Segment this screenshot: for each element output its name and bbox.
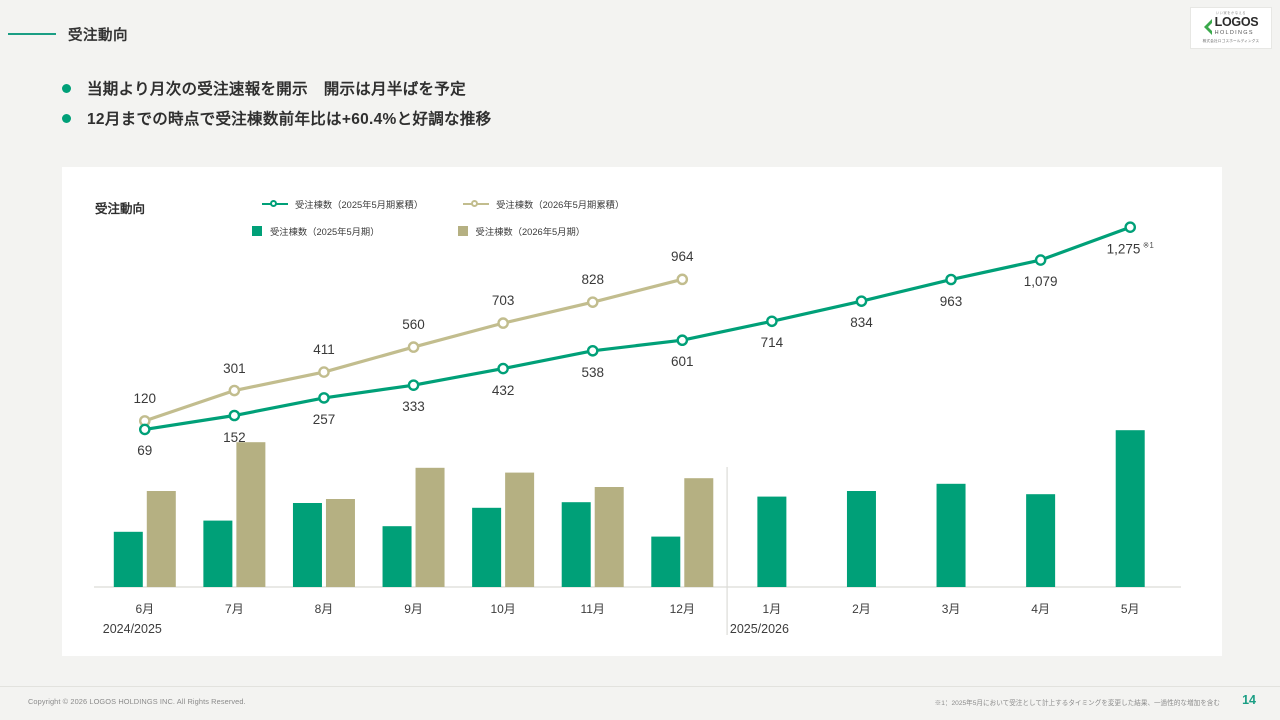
chevron-left-icon xyxy=(1204,19,1212,35)
page-title: 受注動向 xyxy=(68,24,128,45)
slide: 受注動向 いい家をかなえる LOGOS HOLDINGS 株式会社ロゴスホールデ… xyxy=(0,0,1280,720)
list-item: 当期より月次の受注速報を開示 開示は月半ばを予定 xyxy=(62,73,491,103)
logo-mark-row: LOGOS HOLDINGS xyxy=(1204,16,1259,37)
slide-header: 受注動向 いい家をかなえる LOGOS HOLDINGS 株式会社ロゴスホールデ… xyxy=(0,0,1280,58)
bullet-text: 12月までの時点で受注棟数前年比は+60.4%と好調な推移 xyxy=(87,107,491,129)
logo-company-jp: 株式会社ロゴスホールディングス xyxy=(1203,39,1260,44)
chart-plot-area xyxy=(62,167,1222,656)
chart-card: 受注動向 受注棟数（2025年5月期累積） 受注棟数（2026年5月期累積） 受… xyxy=(62,167,1222,656)
bullet-dot-icon xyxy=(62,84,71,93)
logo-name: LOGOS xyxy=(1215,16,1259,29)
list-item: 12月までの時点で受注棟数前年比は+60.4%と好調な推移 xyxy=(62,103,491,133)
logo-wordmark: LOGOS HOLDINGS xyxy=(1215,16,1259,37)
bullet-dot-icon xyxy=(62,114,71,123)
slide-footer: Copyright © 2026 LOGOS HOLDINGS INC. All… xyxy=(0,686,1280,720)
copyright-text: Copyright © 2026 LOGOS HOLDINGS INC. All… xyxy=(28,697,246,706)
bullet-text: 当期より月次の受注速報を開示 開示は月半ばを予定 xyxy=(87,77,466,99)
bullet-list: 当期より月次の受注速報を開示 開示は月半ばを予定 12月までの時点で受注棟数前年… xyxy=(62,73,491,133)
chart-svg xyxy=(62,167,1222,656)
logo-subname: HOLDINGS xyxy=(1215,29,1254,38)
footnote-text: ※1：2025年5月において受注として計上するタイミングを変更した結果、一過性的… xyxy=(935,697,1220,707)
title-accent-rule xyxy=(8,33,56,35)
footer-divider xyxy=(0,686,1280,687)
page-number: 14 xyxy=(1242,693,1256,707)
company-logo: いい家をかなえる LOGOS HOLDINGS 株式会社ロゴスホールディングス xyxy=(1190,7,1272,49)
